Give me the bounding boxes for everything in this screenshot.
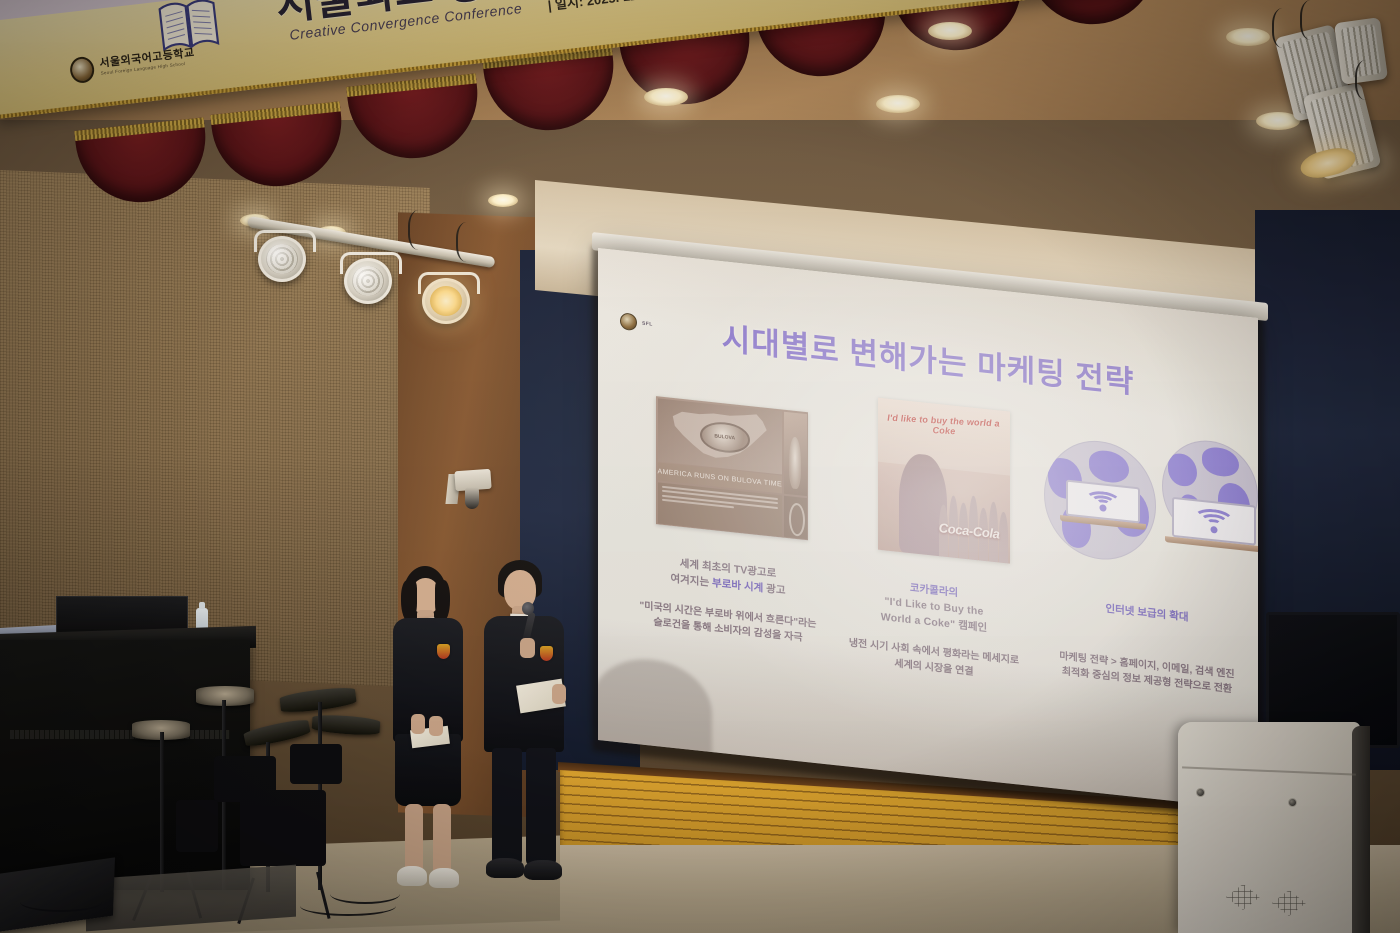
white-lectern-cabinet: [1178, 722, 1360, 933]
caption-heading-2-pre: 코카콜라의: [910, 582, 958, 599]
ceiling-downlight: [644, 88, 688, 106]
leg: [433, 804, 451, 876]
lighting-cable: [1300, 0, 1326, 40]
caption-body-2: 냉전 시기 사회 속에서 평화라는 메세지로 세계의 시장을 연결: [836, 634, 1032, 686]
bulova-ad-image: BULOVA AMERICA RUNS ON BULOVA TIME: [656, 396, 808, 540]
usa-map-panel: BULOVA: [658, 398, 783, 474]
caption-body-2-line2: 세계의 시장을 연결: [894, 658, 973, 677]
laptop-wifi-icon: [1066, 480, 1140, 538]
floor-cable: [300, 896, 396, 916]
caption-heading-1-accent: 부로바 시계: [712, 577, 763, 594]
ceiling-downlight: [488, 194, 518, 207]
lectern-screw: [1196, 788, 1205, 797]
microphone-head[interactable]: [522, 602, 534, 615]
hand: [411, 714, 425, 734]
caption-heading-1-post: 광고: [763, 582, 785, 596]
security-camera-lens: [465, 487, 479, 509]
par-lens: [352, 266, 384, 296]
par-lens: [266, 244, 298, 274]
student-presenter-with-microphone: [478, 560, 574, 900]
lectern-screw: [1288, 798, 1297, 807]
caption-body-3: 마케팅 전략 > 홈페이지, 이메일, 검색 엔진 최적화 중심의 정보 제공형…: [1040, 647, 1254, 701]
coca-cola-hilltop-ad-image: I'd like to buy the world a Coke Coca-Co…: [878, 398, 1010, 564]
hair-side: [435, 580, 450, 622]
school-logo: 서울외국어고등학교 Seoul Foreign Language High Sc…: [69, 44, 197, 84]
wifi-dot: [1100, 504, 1107, 512]
caption-column-2: 코카콜라의 "I'd Like to Buy the World a Coke"…: [836, 573, 1032, 686]
banner-event-meta: | 일시: 2025. 12. 26. (금) | 장소: 서울외고 1층 비전…: [547, 0, 839, 14]
tom-drum: [214, 756, 276, 802]
caption-column-1: 세계 최초의 TV광고로 여겨지는 부로바 시계 광고 "미국의 시간은 부로바…: [628, 551, 828, 649]
ceiling-downlight: [876, 95, 920, 113]
caption-body-1: "미국의 시간은 부로바 위에서 흐른다"라는 슬로건을 통해 소비자의 감성을…: [628, 597, 828, 649]
projection-screen[interactable]: SFL 시대별로 변해가는 마케팅 전략 BULOVA AMERICA RUNS…: [598, 248, 1258, 810]
student-presenter-holding-script: [385, 566, 471, 896]
caption-heading-2-post: 캠페인: [955, 618, 987, 633]
caption-heading-3-pre: 인터넷 보급의 확대: [1105, 603, 1188, 624]
globe-landmass: [1089, 449, 1129, 484]
hand: [429, 716, 443, 736]
lectern-edge-trim: [1352, 726, 1370, 933]
school-blazer: [393, 618, 463, 742]
ceiling-downlight: [928, 22, 972, 40]
upright-piano: [0, 640, 250, 890]
trouser-leg: [526, 748, 556, 866]
cymbal-stand: [160, 732, 164, 892]
led-par-can: [422, 278, 470, 324]
trouser-leg: [492, 748, 522, 866]
sneaker: [397, 866, 427, 886]
snare-drum: [290, 744, 342, 784]
drum-module: [176, 800, 218, 852]
dress-shoe: [524, 860, 562, 880]
ceiling-downlight: [1226, 28, 1270, 46]
lighting-cable: [456, 222, 482, 262]
sneaker: [429, 868, 459, 888]
globe-landmass: [1202, 446, 1238, 478]
led-par-can: [258, 236, 306, 282]
floor-cable: [20, 892, 102, 912]
internet-globe-icons: [1044, 421, 1258, 594]
caption-heading-1-mid: 여겨지는: [670, 572, 712, 588]
bulova-photo-watch: [784, 495, 807, 538]
wifi-icon: [1082, 488, 1124, 515]
par-lens: [430, 286, 462, 316]
hand: [552, 684, 566, 704]
bulova-seal-text: BULOVA: [702, 432, 748, 443]
piano-keys: [10, 730, 230, 739]
auditorium-photo: 지식의 ㅇ 서울외고 창의·융합 컨퍼런스 Creative Convergen…: [0, 0, 1400, 933]
school-crest-badge: [540, 646, 553, 661]
presentation-slide: SFL 시대별로 변해가는 마케팅 전략 BULOVA AMERICA RUNS…: [598, 248, 1258, 810]
hair-side: [401, 580, 417, 622]
laptop-wifi-icon: [1172, 497, 1256, 562]
wifi-dot: [1211, 526, 1218, 534]
dress-shoe: [486, 858, 524, 878]
lighting-cable: [1355, 60, 1381, 100]
bulova-photo-woman: [784, 411, 807, 496]
school-crest-icon: [69, 56, 96, 85]
led-par-can: [344, 258, 392, 304]
school-crest-badge: [437, 644, 450, 659]
caption-column-3: 인터넷 보급의 확대 마케팅 전략 > 홈페이지, 이메일, 검색 엔진 최적화…: [1040, 595, 1254, 700]
lighting-cable: [1272, 8, 1298, 48]
wifi-icon: [1190, 506, 1238, 536]
globe-landmass: [1168, 452, 1197, 487]
hand: [520, 638, 535, 658]
lighting-cable: [408, 210, 434, 250]
